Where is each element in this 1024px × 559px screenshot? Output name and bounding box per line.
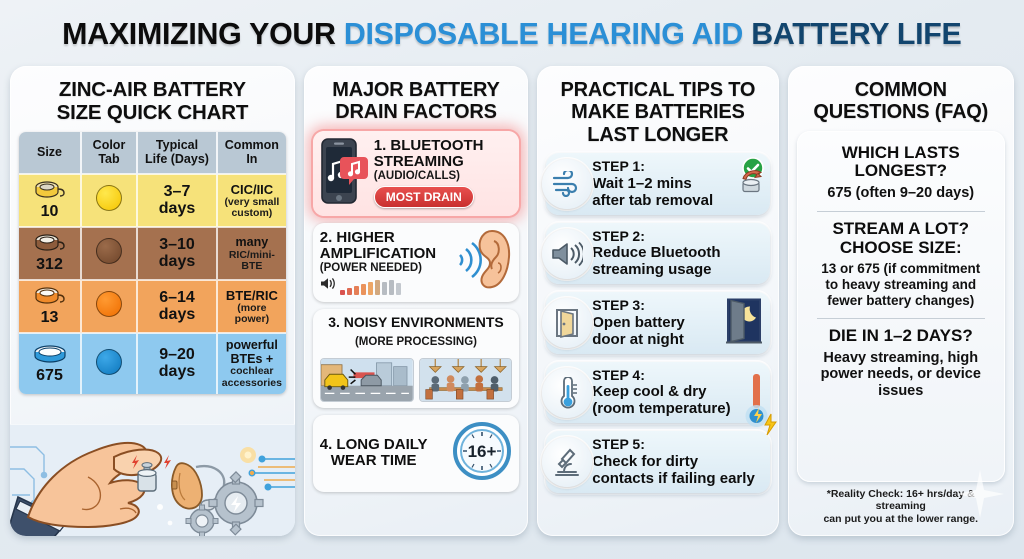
- steps-list: STEP 1: Wait 1–2 mins after tab removal: [546, 153, 769, 527]
- hand-illustration-svg: [10, 425, 295, 536]
- microscope-icon: [542, 437, 592, 487]
- step-5-check-dirty-contacts[interactable]: STEP 5: Check for dirty contacts if fail…: [546, 431, 769, 493]
- panel-faq: COMMON QUESTIONS (FAQ) WHICH LASTS LONGE…: [788, 66, 1014, 536]
- svg-text:16+: 16+: [468, 442, 497, 461]
- battery-tab-icon: [737, 166, 765, 201]
- most-drain-badge: MOST DRAIN: [374, 186, 474, 208]
- size-value: 675: [21, 367, 78, 385]
- table-row: 13 6–14 days BTE/RIC (more power): [19, 280, 286, 333]
- faq-divider: [817, 211, 985, 212]
- cell-size: 10: [19, 174, 81, 227]
- size-value: 13: [21, 309, 78, 327]
- thermometer-icon: [542, 368, 592, 418]
- title-text: MAXIMIZING YOUR DISPOSABLE HEARING AID B…: [62, 16, 961, 52]
- step-1-wait-after-tab-removal[interactable]: STEP 1: Wait 1–2 mins after tab removal: [546, 153, 769, 215]
- drain-factor-wear-time-text: 4. LONG DAILY WEAR TIME: [320, 437, 428, 469]
- panel-practical-tips: PRACTICAL TIPS TO MAKE BATTERIES LAST LO…: [537, 66, 778, 536]
- amplification-level-bars: [340, 280, 401, 295]
- table-row: 10 3–7 days CIC/IIC (very small custom): [19, 174, 286, 227]
- speaker-volume-icon: [542, 229, 592, 279]
- volume-icon: [320, 277, 336, 295]
- panel4-heading-line2: QUESTIONS (FAQ): [799, 101, 1003, 123]
- size-value: 10: [21, 203, 78, 221]
- color-tab-swatch-orange: [96, 291, 122, 317]
- cell-common-in: powerful BTEs + cochlear accessories: [217, 333, 286, 393]
- panel2-heading-line2: DRAIN FACTORS: [315, 101, 517, 123]
- panel3-heading: PRACTICAL TIPS TO MAKE BATTERIES LAST LO…: [546, 74, 769, 153]
- faq-item-which-lasts-longest[interactable]: WHICH LASTS LONGEST? 675 (often 9–20 day…: [805, 139, 997, 208]
- battery-size-table: Size Color Tab Typical Life (Days) Commo…: [19, 132, 286, 394]
- column-header-common-in: Common In: [217, 132, 286, 175]
- wind-icon: [542, 159, 592, 209]
- title-part-3: BATTERY LIFE: [751, 16, 961, 51]
- cell-typical-life: 3–10 days: [137, 227, 217, 280]
- step-2-reduce-bluetooth-streaming[interactable]: STEP 2: Reduce Bluetooth streaming usage: [546, 223, 769, 285]
- cell-common-in: CIC/IIC (very small custom): [217, 174, 286, 227]
- drain-factor-bluetooth-text: 1. BLUETOOTH STREAMING (AUDIO/CALLS) MOS…: [374, 138, 484, 208]
- panel3-heading-line2: MAKE BATTERIES: [548, 101, 767, 123]
- panel1-heading: ZINC-AIR BATTERY SIZE QUICK CHART: [19, 74, 286, 132]
- cell-color-tab: [81, 174, 137, 227]
- battery-10-icon: [21, 180, 78, 202]
- size-value: 312: [21, 256, 78, 274]
- column-header-size: Size: [19, 132, 81, 175]
- battery-312-icon: [21, 233, 78, 255]
- table-row: 675 9–20 days powerful BTEs + cochlear a…: [19, 333, 286, 393]
- column-header-typical-life: Typical Life (Days): [137, 132, 217, 175]
- ear-soundwave-icon: [454, 229, 512, 296]
- cell-common-in: many RIC/mini-BTE: [217, 227, 286, 280]
- drain-factor-wear-time[interactable]: 4. LONG DAILY WEAR TIME 16+: [313, 415, 519, 492]
- faq-box: WHICH LASTS LONGEST? 675 (often 9–20 day…: [797, 131, 1005, 482]
- faq-divider: [817, 318, 985, 319]
- battery-675-icon: [21, 344, 78, 366]
- cell-color-tab: [81, 280, 137, 333]
- hand-hearing-aid-illustration: [10, 424, 295, 536]
- cell-color-tab: [81, 227, 137, 280]
- faq-reality-check-note: *Reality Check: 16+ hrs/day & streaming …: [797, 482, 1005, 527]
- noisy-scene-images: [320, 358, 512, 402]
- panel-drain-factors: MAJOR BATTERY DRAIN FACTORS: [304, 66, 528, 536]
- smartphone-music-icon: [320, 137, 368, 210]
- step-3-open-battery-door-at-night[interactable]: STEP 3: Open battery door at night: [546, 292, 769, 354]
- title-part-2: DISPOSABLE HEARING AID: [344, 16, 751, 51]
- clock-icon: 16+: [452, 421, 512, 486]
- cell-size: 13: [19, 280, 81, 333]
- panel-battery-size-chart: ZINC-AIR BATTERY SIZE QUICK CHART Size C…: [10, 66, 295, 536]
- night-door-moon-icon: [723, 298, 765, 349]
- cell-typical-life: 6–14 days: [137, 280, 217, 333]
- faq-item-stream-a-lot[interactable]: STREAM A LOT? CHOOSE SIZE: 13 or 675 (if…: [805, 215, 997, 315]
- cell-typical-life: 9–20 days: [137, 333, 217, 393]
- cell-color-tab: [81, 333, 137, 393]
- title-part-1: MAXIMIZING YOUR: [62, 16, 344, 51]
- column-header-color-tab: Color Tab: [81, 132, 137, 175]
- panel2-heading-line1: MAJOR BATTERY: [315, 79, 517, 101]
- panel2-heading: MAJOR BATTERY DRAIN FACTORS: [313, 74, 519, 131]
- faq-item-die-in-1-2-days[interactable]: DIE IN 1–2 DAYS? Heavy streaming, high p…: [805, 322, 997, 407]
- color-tab-swatch-brown: [96, 238, 122, 264]
- panel4-heading: COMMON QUESTIONS (FAQ): [797, 74, 1005, 131]
- cell-size: 312: [19, 227, 81, 280]
- color-tab-swatch-yellow: [96, 185, 122, 211]
- panel3-heading-line3: LAST LONGER: [548, 124, 767, 146]
- page-title: MAXIMIZING YOUR DISPOSABLE HEARING AID B…: [0, 0, 1024, 62]
- battery-13-icon: [21, 286, 78, 308]
- cell-common-in: BTE/RIC (more power): [217, 280, 286, 333]
- cell-size: 675: [19, 333, 81, 393]
- panel1-heading-line2: SIZE QUICK CHART: [21, 102, 284, 125]
- drain-factor-amplification[interactable]: 2. HIGHER AMPLIFICATION (POWER NEEDED): [313, 223, 519, 302]
- panels-row: ZINC-AIR BATTERY SIZE QUICK CHART Size C…: [0, 66, 1024, 536]
- color-tab-swatch-blue: [96, 349, 122, 375]
- restaurant-scene-icon: [419, 358, 513, 402]
- open-door-icon: [542, 298, 592, 348]
- cell-typical-life: 3–7 days: [137, 174, 217, 227]
- street-scene-icon: [320, 358, 414, 402]
- step-4-keep-cool-and-dry[interactable]: STEP 4: Keep cool & dry (room temperatur…: [546, 362, 769, 424]
- panel4-heading-line1: COMMON: [799, 79, 1003, 101]
- drain-factor-noisy-environments[interactable]: 3. NOISY ENVIRONMENTS (MORE PROCESSING): [313, 309, 519, 408]
- drain-factor-bluetooth[interactable]: 1. BLUETOOTH STREAMING (AUDIO/CALLS) MOS…: [313, 131, 519, 216]
- table-header-row: Size Color Tab Typical Life (Days) Commo…: [19, 132, 286, 175]
- panel3-heading-line1: PRACTICAL TIPS TO: [548, 79, 767, 101]
- drain-factor-list: 1. BLUETOOTH STREAMING (AUDIO/CALLS) MOS…: [313, 131, 519, 527]
- table-row: 312 3–10 days many RIC/mini-BTE: [19, 227, 286, 280]
- panel1-heading-line1: ZINC-AIR BATTERY: [21, 79, 284, 102]
- drain-factor-amplification-text: 2. HIGHER AMPLIFICATION (POWER NEEDED): [320, 230, 448, 295]
